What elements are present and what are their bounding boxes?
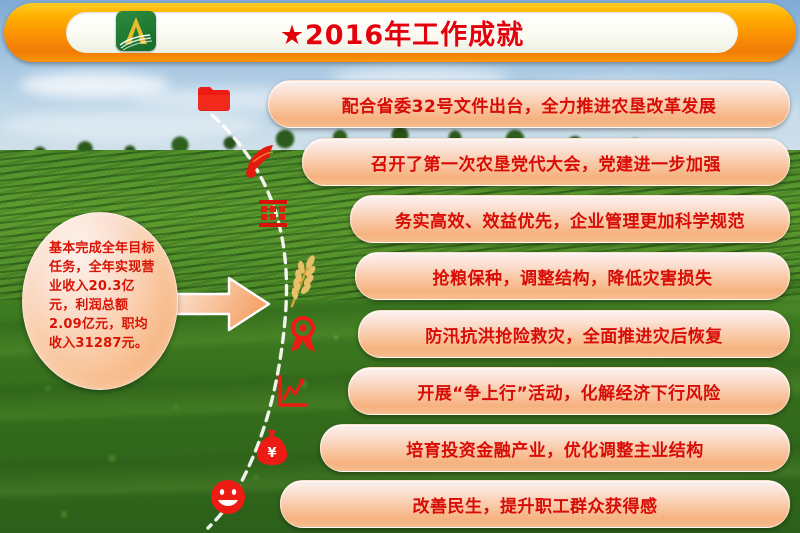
money-bag-icon: ¥ xyxy=(255,427,289,467)
page-title: ★2016年工作成就 xyxy=(280,13,524,52)
right-arrow-icon xyxy=(165,272,273,336)
achievement-item-1[interactable]: 配合省委32号文件出台，全力推进农垦改革发展 xyxy=(268,80,790,128)
smiley-face-icon xyxy=(209,478,247,516)
achievement-item-4[interactable]: 抢粮保种，调整结构，降低灾害损失 xyxy=(355,252,790,300)
achievement-item-6[interactable]: 开展“争上行”活动，化解经济下行风险 xyxy=(348,367,790,415)
achievement-label: 培育投资金融产业，优化调整主业结构 xyxy=(406,436,704,461)
medal-ribbon-icon xyxy=(287,315,319,355)
agriculture-logo-icon xyxy=(116,11,156,51)
achievement-label: 防汛抗洪抢险救灾，全面推进灾后恢复 xyxy=(425,322,723,347)
summary-text: 基本完成全年目标任务，全年实现营业收入20.3亿元，利润总额2.09亿元，职均收… xyxy=(49,239,161,353)
title-inner-panel: ★2016年工作成就 xyxy=(66,12,738,53)
achievement-label: 开展“争上行”活动，化解经济下行风险 xyxy=(417,379,720,404)
red-folder-icon xyxy=(196,84,232,114)
achievement-item-2[interactable]: 召开了第一次农垦党代大会，党建进一步加强 xyxy=(302,138,790,186)
achievement-item-8[interactable]: 改善民生，提升职工群众获得感 xyxy=(280,480,790,528)
wheat-ear-icon xyxy=(284,243,320,313)
achievement-label: 配合省委32号文件出台，全力推进农垦改革发展 xyxy=(342,92,717,117)
svg-text:¥: ¥ xyxy=(267,446,276,461)
achievement-label: 务实高效、效益优先，企业管理更加科学规范 xyxy=(395,207,745,232)
achievement-label: 召开了第一次农垦党代大会，党建进一步加强 xyxy=(371,150,721,175)
party-emblem-icon xyxy=(240,140,280,180)
achievement-item-5[interactable]: 防汛抗洪抢险救灾，全面推进灾后恢复 xyxy=(358,310,790,358)
achievement-item-7[interactable]: 培育投资金融产业，优化调整主业结构 xyxy=(320,424,790,472)
slide-canvas: ★2016年工作成就 xyxy=(0,0,800,533)
red-building-icon xyxy=(256,196,290,230)
summary-bubble[interactable]: 基本完成全年目标任务，全年实现营业收入20.3亿元，利润总额2.09亿元，职均收… xyxy=(22,212,178,390)
rising-chart-icon xyxy=(276,375,308,409)
achievement-label: 改善民生，提升职工群众获得感 xyxy=(413,492,658,517)
achievement-label: 抢粮保种，调整结构，降低灾害损失 xyxy=(433,264,713,289)
achievement-item-3[interactable]: 务实高效、效益优先，企业管理更加科学规范 xyxy=(350,195,790,243)
